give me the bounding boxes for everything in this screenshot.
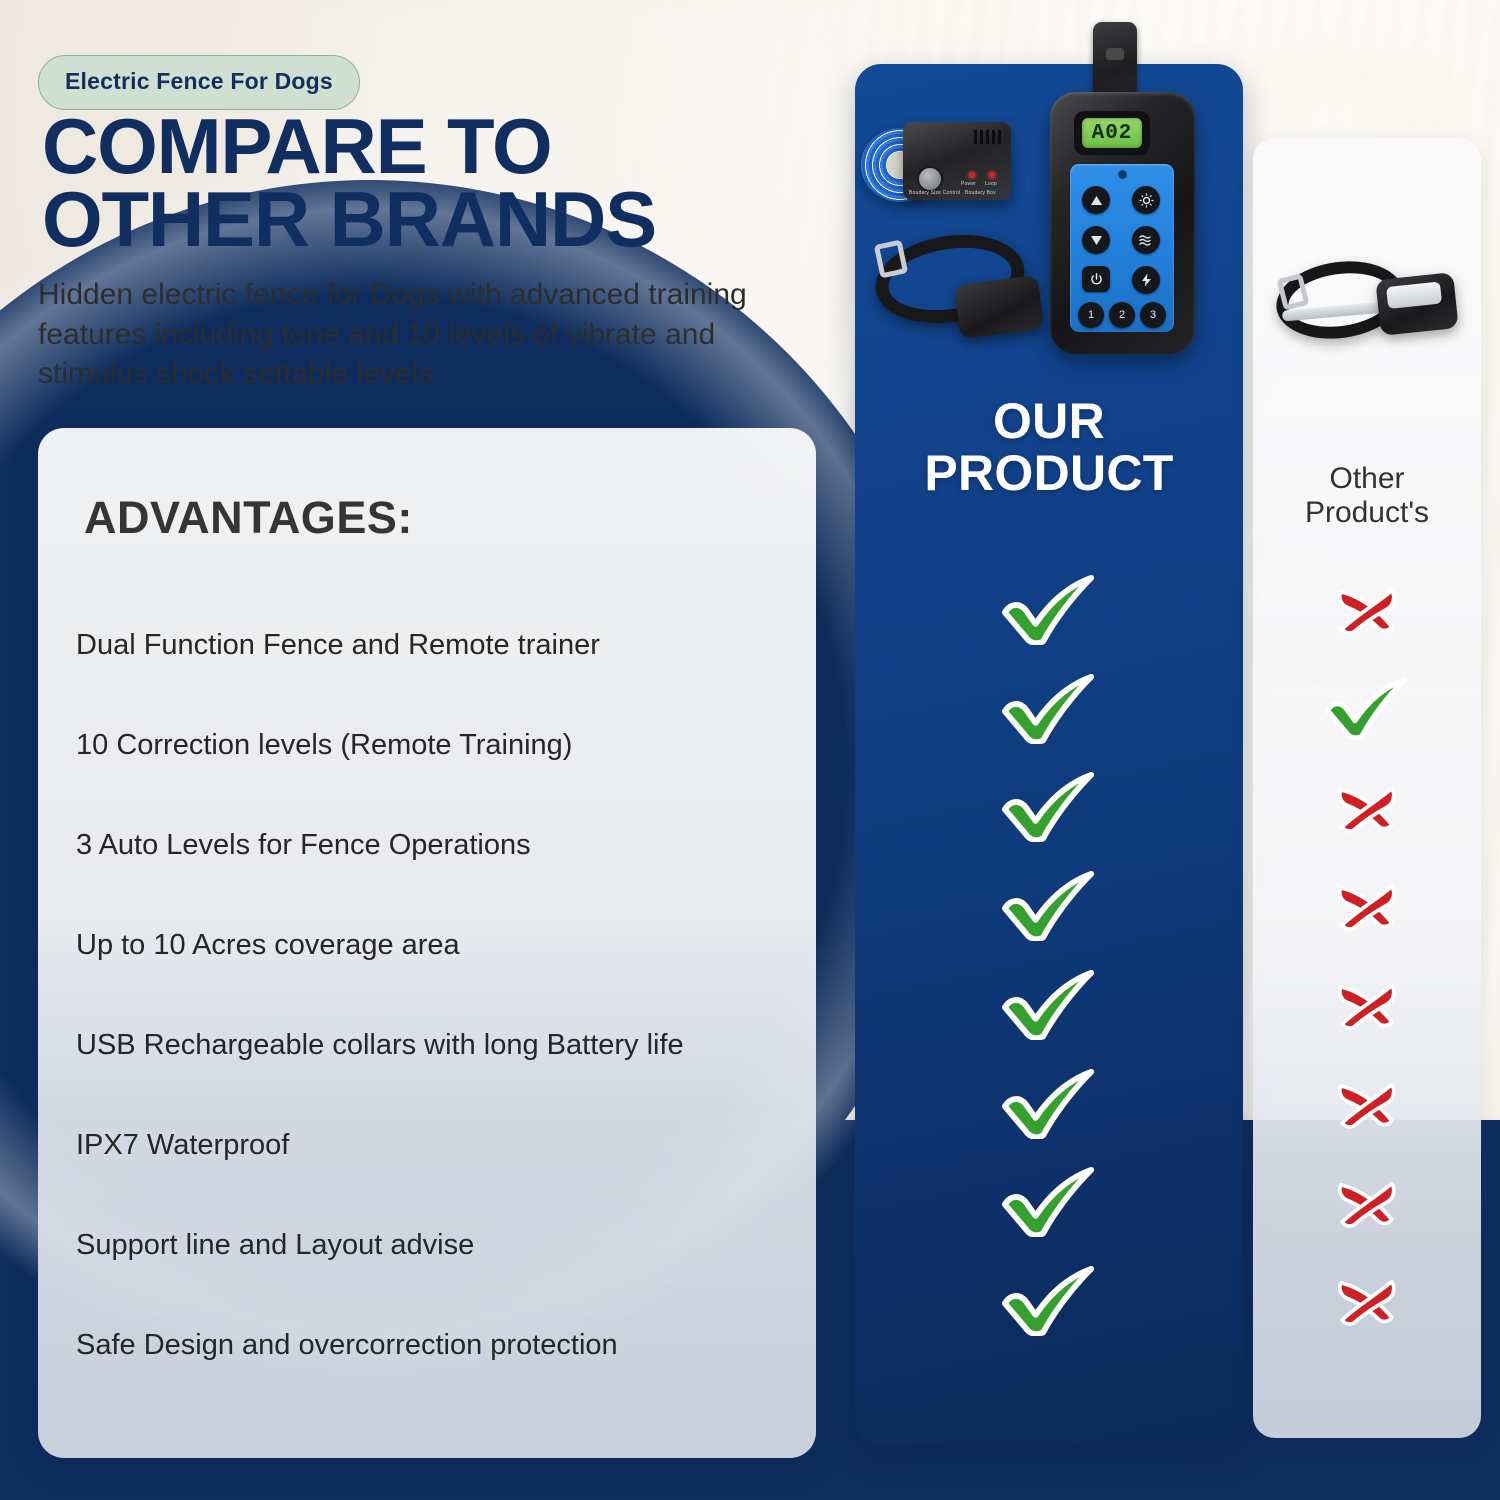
comparison-row [855, 560, 1243, 659]
check-icon [1001, 969, 1097, 1040]
other-product-label-line-1: Other [1253, 462, 1481, 496]
list-item: Safe Design and overcorrection protectio… [76, 1295, 796, 1395]
comparison-row [855, 856, 1243, 955]
cross-icon [1336, 582, 1398, 636]
collar-buckle-icon [874, 239, 908, 278]
infographic-root: Electric Fence For Dogs COMPARE TO OTHER… [0, 0, 1500, 1500]
list-item: 10 Correction levels (Remote Training) [76, 695, 796, 795]
our-product-image: Power Loop Boudary Size Control Boudary … [865, 10, 1245, 380]
other-product-marks-column [1253, 560, 1481, 1350]
vibrate-button[interactable] [1132, 226, 1160, 254]
page-subtitle: Hidden electric fence for Dogs with adva… [38, 275, 828, 394]
check-icon [1001, 1068, 1097, 1139]
collar-receiver-unit [954, 275, 1044, 339]
boundary-size-dial [917, 166, 943, 192]
power-led-label: Power [961, 181, 976, 187]
power-button[interactable] [1082, 266, 1110, 292]
list-item: IPX7 Waterproof [76, 1095, 796, 1195]
our-product-marks-column [855, 560, 1243, 1350]
list-item: Support line and Layout advise [76, 1195, 796, 1295]
our-product-label-line-1: OUR [855, 396, 1243, 448]
receiver-collar-icon [871, 222, 1043, 350]
light-button[interactable] [1132, 186, 1160, 214]
loop-led-label: Loop [985, 181, 997, 187]
comparison-row [1253, 1251, 1481, 1350]
preset-2-button[interactable]: 2 [1109, 302, 1135, 328]
cross-icon [1336, 1175, 1398, 1229]
our-product-label-line-2: PRODUCT [855, 448, 1243, 500]
comparison-row [1253, 955, 1481, 1054]
page-title: COMPARE TO OTHER BRANDS [42, 110, 802, 257]
list-item: USB Rechargeable collars with long Batte… [76, 995, 796, 1095]
boundary-dial-label: Boudary Size Control [909, 190, 960, 196]
comparison-row [1253, 856, 1481, 955]
comparison-row [855, 758, 1243, 857]
cross-icon [1336, 1076, 1398, 1130]
comparison-row [855, 1251, 1243, 1350]
cross-icon [1336, 977, 1398, 1031]
page-title-line-2: OTHER BRANDS [42, 183, 802, 256]
comparison-row [1253, 1054, 1481, 1153]
check-icon [1001, 673, 1097, 744]
check-icon [1001, 771, 1097, 842]
comparison-row [1253, 1153, 1481, 1252]
advantages-heading: ADVANTAGES: [84, 492, 413, 544]
comparison-row [1253, 758, 1481, 857]
comparison-row [1253, 560, 1481, 659]
check-icon [1001, 1166, 1097, 1237]
loop-led-icon [989, 172, 995, 178]
down-arrow-button[interactable] [1082, 226, 1110, 254]
our-product-column-label: OUR PRODUCT [855, 396, 1243, 499]
list-item: Dual Function Fence and Remote trainer [76, 595, 796, 695]
up-arrow-button[interactable] [1082, 186, 1110, 214]
handheld-remote-icon: A02 [1050, 92, 1195, 354]
remote-keypad: 1 2 3 [1070, 164, 1174, 332]
page-title-line-1: COMPARE TO [42, 110, 802, 183]
transmitter-box-icon: Power Loop Boudary Size Control Boudary … [903, 122, 1011, 200]
comparison-row [855, 659, 1243, 758]
other-collar-silver-face [1386, 281, 1442, 309]
cross-icon [1336, 878, 1398, 932]
comparison-row [1253, 659, 1481, 758]
check-icon [1001, 574, 1097, 645]
check-icon [1324, 676, 1410, 740]
check-icon [1001, 1265, 1097, 1336]
cross-icon [1336, 780, 1398, 834]
list-item: 3 Auto Levels for Fence Operations [76, 795, 796, 895]
other-product-image [1268, 252, 1468, 372]
comparison-row [855, 1153, 1243, 1252]
other-product-label-line-2: Product's [1253, 496, 1481, 530]
remote-status-led [1118, 170, 1127, 179]
other-collar-receiver-unit [1375, 272, 1458, 336]
other-product-column-label: Other Product's [1253, 462, 1481, 530]
remote-display-value: A02 [1092, 122, 1133, 145]
cross-icon [1336, 1273, 1398, 1327]
check-icon [1001, 870, 1097, 941]
preset-1-button[interactable]: 1 [1078, 302, 1104, 328]
boundary-box-label: Boudary Box [965, 190, 996, 196]
power-led-icon [969, 172, 975, 178]
preset-3-button[interactable]: 3 [1140, 302, 1166, 328]
transmitter-vents [974, 130, 1002, 144]
advantages-list: Dual Function Fence and Remote trainer 1… [76, 595, 796, 1395]
comparison-row [855, 1054, 1243, 1153]
list-item: Up to 10 Acres coverage area [76, 895, 796, 995]
shock-button[interactable] [1132, 266, 1160, 294]
comparison-row [855, 955, 1243, 1054]
remote-lcd-display: A02 [1082, 118, 1142, 148]
